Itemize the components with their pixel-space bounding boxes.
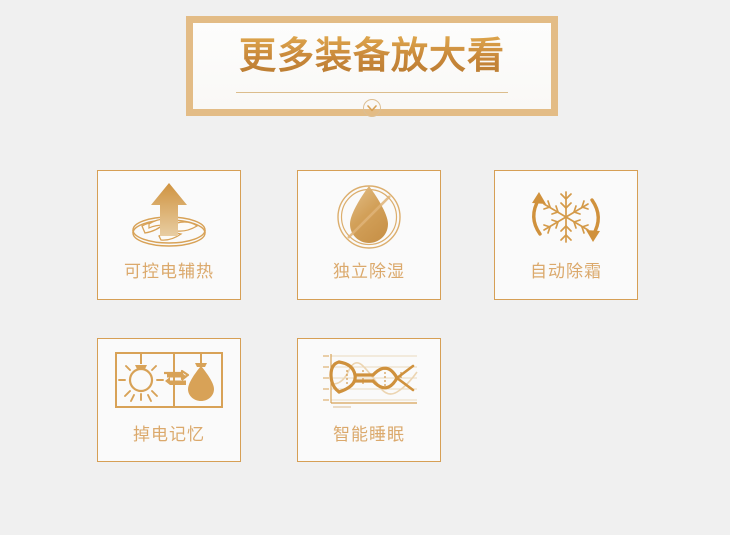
power-memory-bulbs-glyph <box>114 351 224 411</box>
no-humidity-droplet-icon <box>298 179 440 255</box>
snowflake-defrost-glyph <box>518 182 614 252</box>
snowflake-defrost-icon <box>495 179 637 255</box>
feature-label: 智能睡眠 <box>298 420 440 445</box>
title-banner-inner: 更多装备放大看 <box>193 23 551 109</box>
chevron-down-icon[interactable] <box>363 99 381 117</box>
feature-label: 自动除霜 <box>495 257 637 282</box>
feature-label: 掉电记忆 <box>98 420 240 445</box>
feature-label: 独立除湿 <box>298 257 440 282</box>
title-banner: 更多装备放大看 <box>186 16 558 116</box>
feature-card-defrost[interactable]: 自动除霜 <box>494 170 638 300</box>
sleep-curve-chart-icon <box>298 345 440 417</box>
heater-arrow-glyph <box>121 181 217 253</box>
chevron-down-glyph <box>367 105 377 112</box>
heater-arrow-icon <box>98 179 240 255</box>
feature-card-power-memory[interactable]: 掉电记忆 <box>97 338 241 462</box>
feature-label: 可控电辅热 <box>98 257 240 282</box>
feature-card-heater[interactable]: 可控电辅热 <box>97 170 241 300</box>
power-memory-bulbs-icon <box>98 345 240 417</box>
sleep-curve-chart-glyph <box>317 350 421 412</box>
feature-card-smart-sleep[interactable]: 智能睡眠 <box>297 338 441 462</box>
feature-card-dehumidify[interactable]: 独立除湿 <box>297 170 441 300</box>
title-divider <box>236 92 508 93</box>
no-humidity-droplet-glyph <box>330 180 408 254</box>
page-title: 更多装备放大看 <box>193 34 551 78</box>
